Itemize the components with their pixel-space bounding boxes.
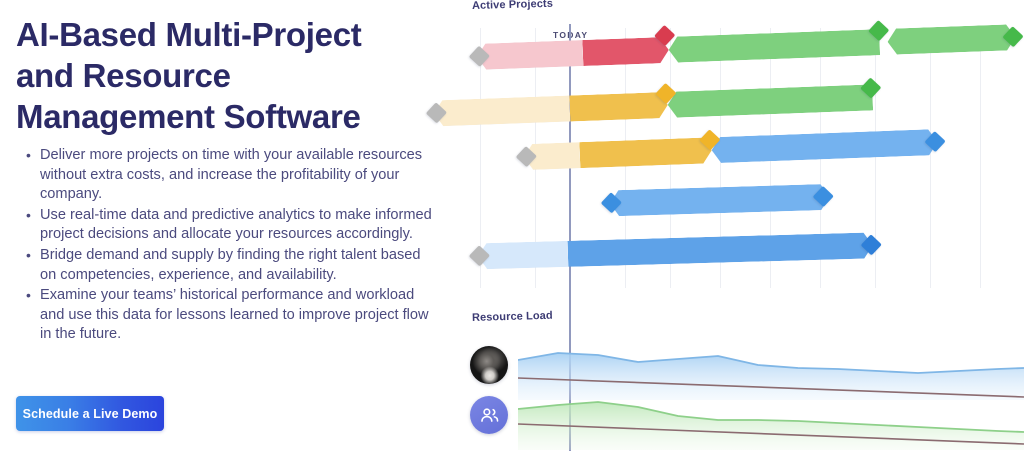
gantt-row-project-5[interactable]: [420, 228, 1024, 275]
gantt-row-project-2[interactable]: [420, 79, 1024, 131]
feature-bullet-list: Deliver more projects on time with your …: [22, 146, 440, 346]
avatar[interactable]: [470, 346, 508, 384]
bar-segment-in-progress[interactable]: [579, 137, 712, 168]
hero-copy-column: AI-Based Multi-Project and Resource Mana…: [0, 0, 440, 475]
product-screenshot: Active Projects Resource Load TODAY: [420, 0, 1024, 475]
gantt-row-project-4[interactable]: [420, 178, 1024, 226]
bar-segment-scheduled[interactable]: [609, 184, 830, 217]
team-avatar[interactable]: [470, 396, 508, 434]
gantt-chart: [420, 0, 1024, 300]
list-item: Deliver more projects on time with your …: [40, 146, 440, 205]
bar-segment-planned[interactable]: [433, 96, 570, 127]
people-icon: [479, 405, 500, 426]
list-item: Use real-time data and predictive analyt…: [40, 206, 440, 245]
bar-segment-on-track-b[interactable]: [887, 24, 1016, 55]
bar-segment-on-track[interactable]: [667, 84, 873, 117]
bar-segment-scheduled[interactable]: [568, 232, 874, 267]
list-item: Bridge demand and supply by finding the …: [40, 246, 440, 285]
gantt-row-project-3[interactable]: [420, 126, 1024, 178]
bar-segment-planned[interactable]: [478, 241, 569, 270]
area-chart-team: [518, 388, 1024, 450]
list-item: Examine your teams’ historical performan…: [40, 286, 440, 345]
resource-load-series-team[interactable]: [518, 388, 1024, 450]
bar-segment-in-progress[interactable]: [569, 92, 668, 122]
bar-segment-scheduled[interactable]: [711, 129, 938, 163]
page-title: AI-Based Multi-Project and Resource Mana…: [16, 14, 416, 137]
bar-segment-planned[interactable]: [476, 40, 583, 70]
bar-segment-late[interactable]: [582, 37, 669, 66]
gantt-row-project-1[interactable]: [420, 24, 1024, 76]
schedule-live-demo-button[interactable]: Schedule a Live Demo: [16, 396, 164, 431]
hero-section: AI-Based Multi-Project and Resource Mana…: [0, 0, 1024, 475]
resource-load-chart: [420, 300, 1024, 475]
area-fill: [518, 402, 1024, 450]
bar-segment-on-track-a[interactable]: [668, 29, 880, 63]
